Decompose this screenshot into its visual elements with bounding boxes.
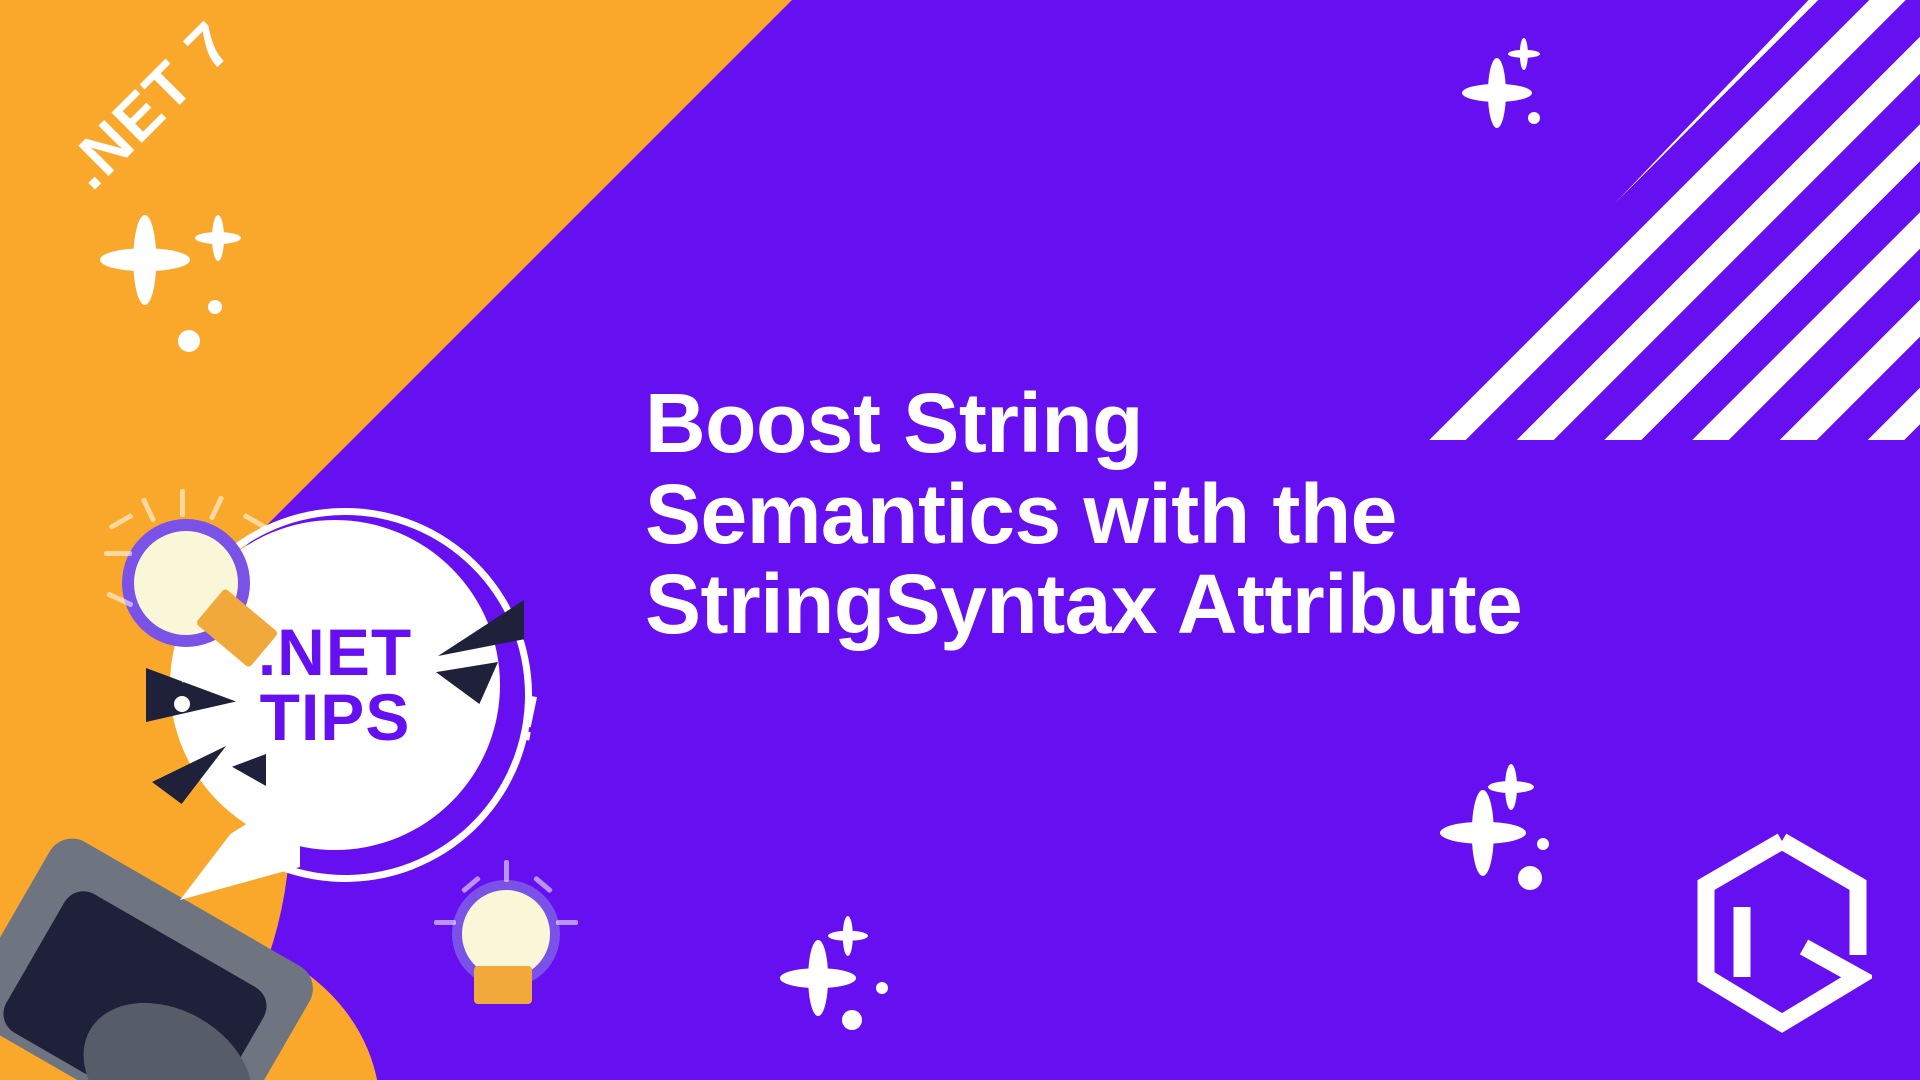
sparkle-dot-icon [1537,838,1549,850]
sparkle-icon [100,215,190,305]
sparkle-icon [1508,38,1540,70]
hero-banner: .NET 7 .NET TIPS ! ! [0,0,1920,1080]
lightbulb-ray [504,860,509,882]
hexagon-brand-logo-icon [1682,827,1872,1042]
sparkle-dot-icon [178,330,200,352]
sparkle-icon [1488,764,1534,810]
lightbulb-ray [556,920,578,925]
sparkle-dot-icon [208,300,222,314]
sparkle-dot-icon [876,982,888,994]
lightbulb-icon [118,505,308,695]
lightbulb-base [474,966,532,1004]
sparkle-dot-icon [1528,112,1540,124]
lightbulb-ray [104,551,132,556]
diagonal-stripes-decoration [1260,0,1920,440]
sparkle-icon [195,215,241,261]
sparkle-icon [828,916,868,956]
sparkle-dot-icon [842,1010,862,1030]
lightbulb-bulb [462,890,550,978]
lightbulb-ray [242,513,267,530]
banner-title-line-3: StringSyntax Attribute [645,559,1805,650]
lightbulb-icon [452,880,592,1030]
sparkle-dot-icon [174,696,190,712]
sparkle-dot-icon [1518,866,1542,890]
banner-title-line-1: Boost String [645,378,1805,469]
lightbulb-ray [434,920,456,925]
lightbulb-ray [180,489,185,517]
banner-title-line-2: Semantics with the [645,469,1805,560]
banner-title: Boost String Semantics with the StringSy… [645,378,1805,650]
